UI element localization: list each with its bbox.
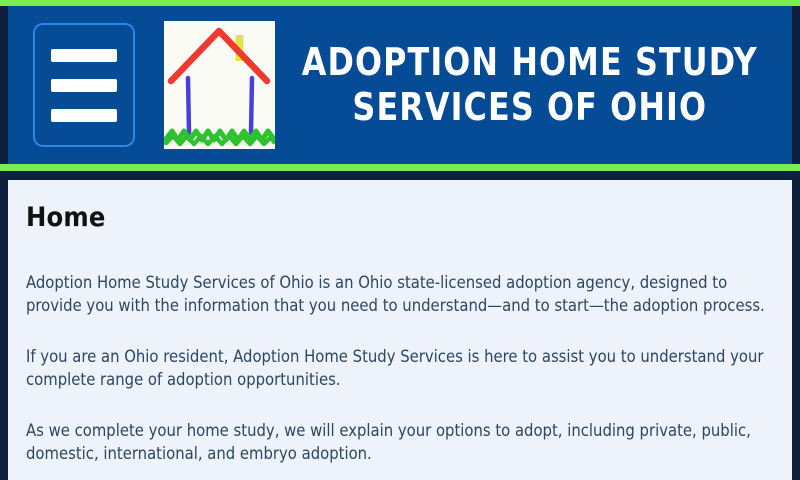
hamburger-icon-bar-3 [51,109,117,122]
hamburger-icon-bar-1 [51,49,117,62]
header-bottom-accent-rule [0,164,800,171]
house-drawing-logo[interactable] [164,21,275,149]
page-title: Home [26,202,768,233]
site-header: Adoption Home Study Services of Ohio [8,6,792,164]
hamburger-icon-bar-2 [51,79,117,92]
body-copy: Adoption Home Study Services of Ohio is … [26,271,768,466]
paragraph: As we complete your home study, we will … [26,419,768,466]
site-title: Adoption Home Study Services of Ohio [293,40,774,130]
hamburger-menu-button[interactable] [33,23,135,147]
header-bottom-navy-rule [0,171,800,180]
paragraph: Adoption Home Study Services of Ohio is … [26,271,768,318]
paragraph: If you are an Ohio resident, Adoption Ho… [26,345,768,392]
main-content: Home Adoption Home Study Services of Ohi… [8,180,792,480]
page-root: Adoption Home Study Services of Ohio Hom… [0,0,800,480]
